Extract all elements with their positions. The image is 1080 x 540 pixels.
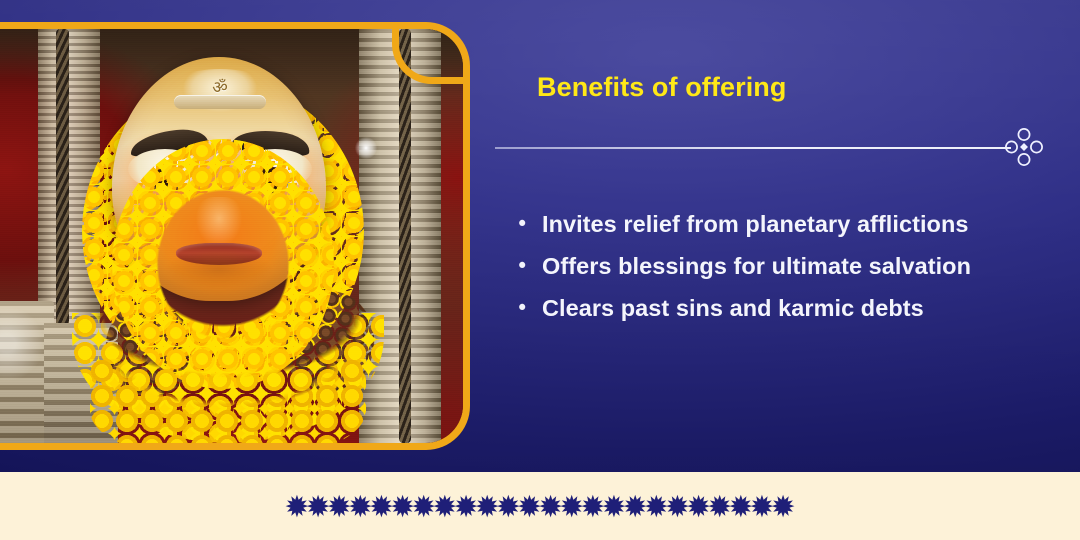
footer-flower-border: ✹✹✹✹✹✹✹✹✹✹✹✹✹✹✹✹✹✹✹✹✹✹✹✹ xyxy=(0,486,1080,530)
photo-grain-overlay xyxy=(0,29,463,443)
list-item-label: Invites relief from planetary affliction… xyxy=(542,204,1012,244)
bullet-dot-icon: • xyxy=(516,246,542,286)
bullet-dot-icon: • xyxy=(516,204,542,244)
list-item: • Offers blessings for ultimate salvatio… xyxy=(516,246,1012,286)
photo-frame: ॐ xyxy=(0,22,470,450)
benefits-list: • Invites relief from planetary afflicti… xyxy=(516,204,1012,330)
quatrefoil-knot-ornament-icon xyxy=(1003,126,1045,168)
bullet-dot-icon: • xyxy=(516,288,542,328)
photo-clip: ॐ xyxy=(0,29,463,443)
list-item-label: Clears past sins and karmic debts xyxy=(542,288,1012,328)
list-item: • Clears past sins and karmic debts xyxy=(516,288,1012,328)
title-divider xyxy=(495,147,1011,149)
deity-photo: ॐ xyxy=(0,29,463,443)
list-item-label: Offers blessings for ultimate salvation xyxy=(542,246,1012,286)
flower-icon: ✹ xyxy=(771,493,796,523)
page-title: Benefits of offering xyxy=(537,72,787,103)
list-item: • Invites relief from planetary afflicti… xyxy=(516,204,1012,244)
slide-root: ॐ xyxy=(0,0,1080,540)
